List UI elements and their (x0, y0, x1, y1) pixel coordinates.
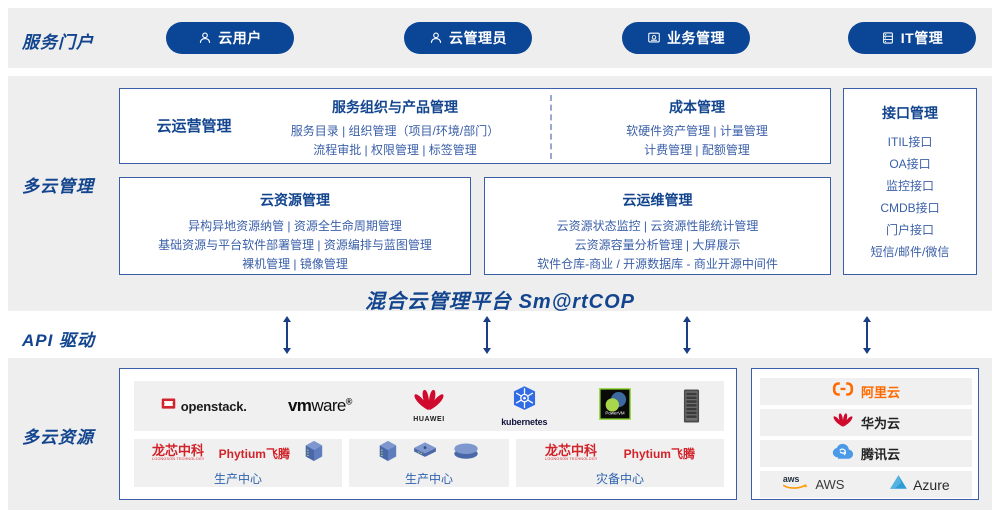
private-cloud-box: openstack. vmware® HUAWEI (119, 368, 737, 500)
cloud-resource-line-1: 异构异地资源纳管 | 资源全生命周期管理 (120, 217, 470, 236)
datacenter-disaster-recovery: 龙芯中科 LOONGSON TECHNOLOGY Phytium飞腾 灾备中心 (516, 439, 724, 487)
huawei-logo: HUAWEI (380, 389, 478, 423)
api-arrow (481, 316, 493, 354)
azure-icon (889, 474, 908, 495)
loongson-sublabel: LOONGSON TECHNOLOGY (152, 457, 205, 462)
public-cloud-label: 腾讯云 (861, 444, 900, 463)
cloud-ops-management-box: 云运维管理 云资源状态监控 | 云资源性能统计管理 云资源容量分析管理 | 大屏… (484, 177, 831, 275)
server-icon (881, 31, 895, 45)
public-cloud-box: 阿里云 华为云 腾讯云 (751, 368, 979, 500)
loongson-label: 龙芯中科 (545, 445, 597, 457)
portal-button-cloud-admin[interactable]: 云管理员 (404, 22, 532, 54)
datacenter-name: 生产中心 (405, 470, 453, 487)
public-cloud-tencent: 腾讯云 (760, 440, 972, 467)
kubernetes-icon (511, 385, 538, 417)
service-org-title: 服务组织与产品管理 (260, 97, 530, 117)
openstack-logo: openstack. (148, 396, 259, 416)
datacenter-name: 灾备中心 (596, 470, 644, 487)
cloud-resource-title: 云资源管理 (120, 190, 470, 210)
row-label-resources: 多云资源 (22, 423, 94, 448)
vertical-divider (550, 95, 552, 159)
aws-icon: aws (782, 473, 810, 496)
cloud-resource-management-box: 云资源管理 异构异地资源纳管 | 资源全生命周期管理 基础资源与平台软件部署管理… (119, 177, 471, 275)
vmware-label: vmware® (288, 396, 352, 416)
loongson-logo: 龙芯中科 LOONGSON TECHNOLOGY (152, 445, 205, 462)
public-cloud-label: Azure (913, 477, 950, 493)
svg-text:PowerVM: PowerVM (605, 410, 625, 415)
row-label-management: 多云管理 (22, 172, 94, 197)
cloud-ops-line-2: 云资源容量分析管理 | 大屏展示 (485, 236, 830, 255)
datacenter-name: 生产中心 (214, 470, 262, 487)
loongson-logo: 龙芯中科 LOONGSON TECHNOLOGY (545, 445, 598, 462)
switch-icon (412, 441, 438, 466)
public-cloud-label: 阿里云 (861, 382, 900, 401)
cost-mgmt-line-1: 软硬件资产管理 | 计量管理 (572, 122, 822, 141)
cloud-resource-line-2: 基础资源与平台软件部署管理 | 资源编排与蓝图管理 (120, 236, 470, 255)
disk-icon (452, 442, 480, 465)
cloud-ops-title: 云运维管理 (485, 190, 830, 210)
server-rack-image (659, 389, 724, 423)
interface-mgmt-title: 接口管理 (844, 103, 976, 123)
interface-item: 短信/邮件/微信 (844, 241, 976, 263)
public-cloud-label: AWS (815, 477, 844, 492)
public-cloud-alibaba: 阿里云 (760, 378, 972, 405)
phytium-label: Phytium飞腾 (624, 445, 695, 462)
powervm-icon: PowerVM (599, 388, 631, 425)
portal-button-label: IT管理 (901, 28, 943, 48)
powervm-logo: PowerVM (571, 388, 659, 425)
cloud-operation-side-title: 云运营管理 (134, 115, 254, 136)
cloud-operation-management-box: 云运营管理 服务组织与产品管理 服务目录 | 组织管理（项目/环境/部门） 流程… (119, 88, 831, 164)
cloud-ops-line-1: 云资源状态监控 | 云资源性能统计管理 (485, 217, 830, 236)
loongson-label: 龙芯中科 (152, 445, 204, 457)
portal-button-label: 云管理员 (449, 28, 507, 48)
row-label-portal: 服务门户 (22, 28, 94, 53)
public-cloud-aws-azure: aws AWS Azure (760, 471, 972, 498)
cost-mgmt-line-2: 计费管理 | 配额管理 (572, 141, 822, 160)
user-icon (429, 31, 443, 45)
huawei-cloud-icon (832, 412, 854, 433)
cloud-resource-line-3: 裸机管理 | 镜像管理 (120, 255, 470, 274)
cost-mgmt-title: 成本管理 (572, 97, 822, 117)
interface-item: 门户接口 (844, 219, 976, 241)
loongson-sublabel: LOONGSON TECHNOLOGY (545, 457, 598, 462)
api-arrow (861, 316, 873, 354)
service-org-line-1: 服务目录 | 组织管理（项目/环境/部门） (260, 122, 530, 141)
public-cloud-huawei: 华为云 (760, 409, 972, 436)
datacenter-production-2: 生产中心 (349, 439, 509, 487)
portal-button-business-mgmt[interactable]: 业务管理 (622, 22, 750, 54)
tencent-cloud-icon (832, 443, 854, 464)
cube-icon (304, 440, 324, 467)
openstack-icon (161, 396, 176, 416)
vmware-logo: vmware® (259, 396, 380, 416)
virtualization-logo-strip: openstack. vmware® HUAWEI (134, 381, 724, 431)
interface-management-box: 接口管理 ITIL接口 OA接口 监控接口 CMDB接口 门户接口 短信/邮件/… (843, 88, 977, 275)
interface-item: CMDB接口 (844, 197, 976, 219)
kubernetes-label: kubernetes (501, 417, 547, 427)
huawei-flower-icon (412, 389, 446, 416)
portal-button-label: 业务管理 (667, 28, 725, 48)
portal-button-it-mgmt[interactable]: IT管理 (848, 22, 976, 54)
openstack-label: openstack. (181, 399, 247, 414)
monitor-icon (647, 31, 661, 45)
cloud-ops-line-3: 软件仓库-商业 / 开源数据库 - 商业开源中间件 (485, 255, 830, 274)
interface-item: 监控接口 (844, 175, 976, 197)
public-cloud-azure: Azure (889, 474, 950, 495)
platform-title: 混合云管理平台 Sm@rtCOP (0, 285, 1000, 314)
row-label-api: API 驱动 (22, 326, 95, 351)
interface-item: ITIL接口 (844, 131, 976, 153)
cube-icon (378, 440, 398, 467)
user-icon (198, 31, 212, 45)
portal-button-cloud-user[interactable]: 云用户 (166, 22, 294, 54)
alibaba-cloud-icon (832, 381, 854, 402)
api-arrow (281, 316, 293, 354)
phytium-label: Phytium飞腾 (219, 445, 290, 462)
public-cloud-label: 华为云 (861, 413, 900, 432)
interface-item: OA接口 (844, 153, 976, 175)
portal-button-label: 云用户 (218, 28, 262, 48)
api-arrow (681, 316, 693, 354)
huawei-label: HUAWEI (413, 416, 445, 423)
service-org-line-2: 流程审批 | 权限管理 | 标签管理 (260, 141, 530, 160)
datacenter-production-1: 龙芯中科 LOONGSON TECHNOLOGY Phytium飞腾 生产中心 (134, 439, 342, 487)
architecture-diagram: 服务门户 云用户 云管理员 业务管理 IT管理 多云管理 云运营管理 服务组织与… (0, 0, 1000, 518)
kubernetes-logo: kubernetes (478, 385, 571, 427)
public-cloud-aws: aws AWS (782, 473, 844, 496)
svg-text:aws: aws (783, 474, 800, 484)
